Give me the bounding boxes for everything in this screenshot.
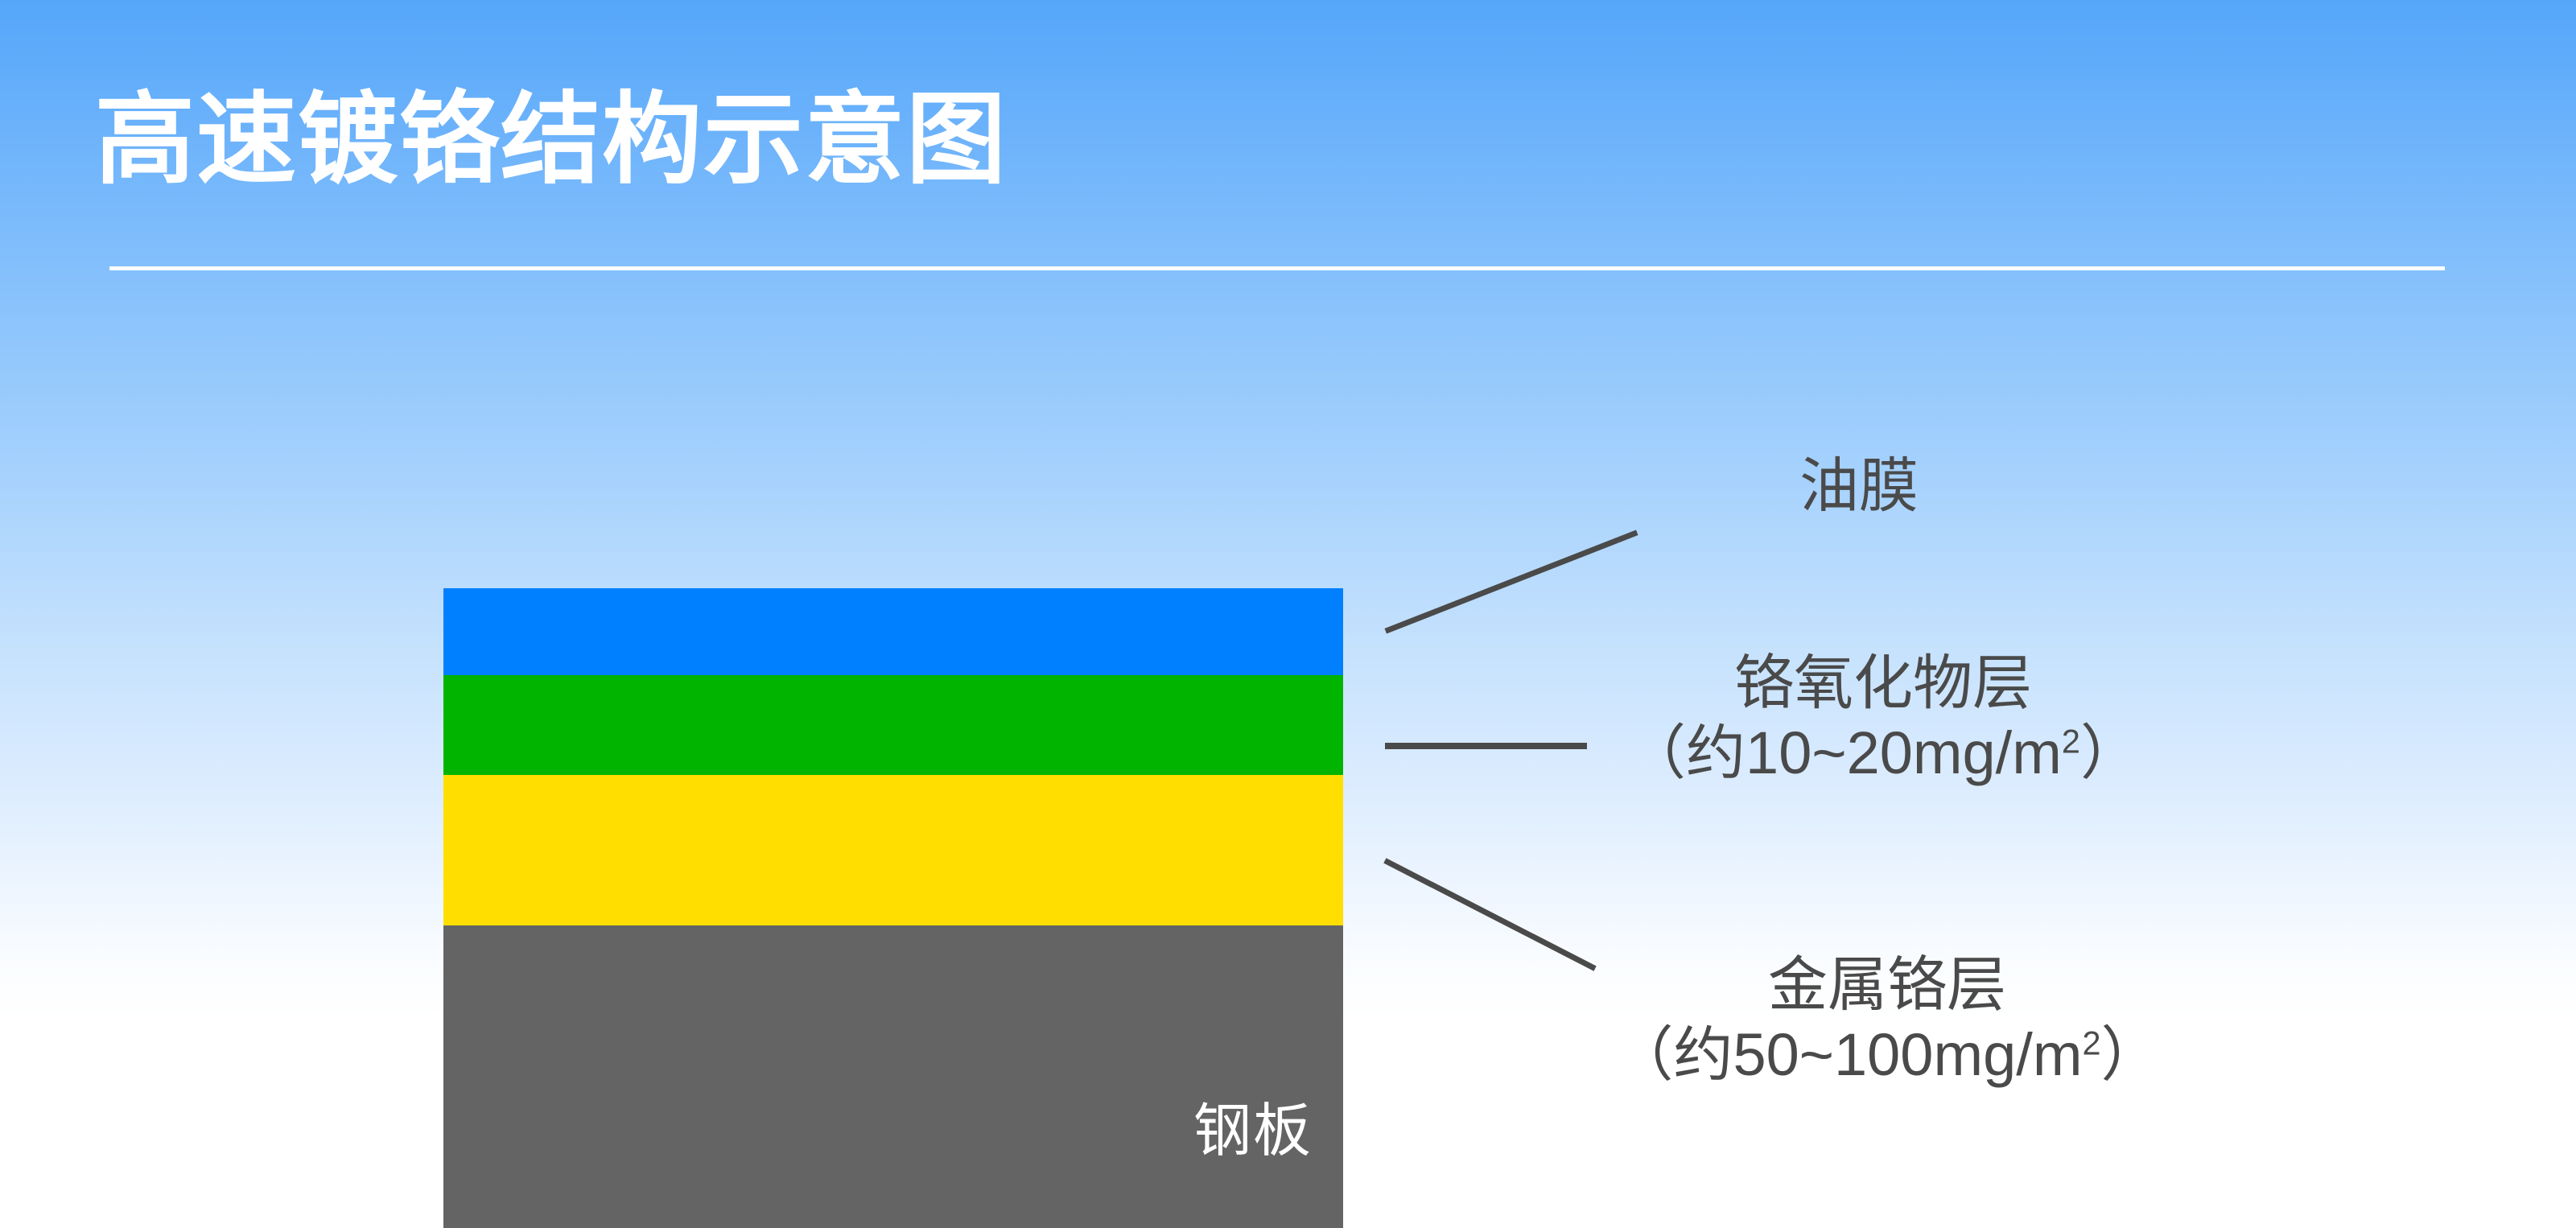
callout-oxide-amount-suffix: ） (2080, 719, 2140, 786)
layer-steel-substrate: 钢板 (443, 925, 1343, 1228)
substrate-label: 钢板 (1193, 1102, 1313, 1160)
page-title: 高速镀铬结构示意图 (95, 87, 1008, 195)
leader-line-oil (1388, 534, 1634, 630)
layer-chrome-oxide (443, 675, 1343, 775)
callout-oxide-amount-prefix: （约10~20mg/m (1626, 719, 2062, 786)
title-divider (109, 266, 2445, 270)
callout-chrome-amount-prefix: （约50~100mg/m (1614, 1021, 2082, 1088)
layer-metallic-chrome (443, 775, 1343, 925)
layer-oil-film (443, 588, 1343, 675)
layer-stack-diagram: 钢板 (443, 588, 1343, 1228)
slide-canvas: 高速镀铬结构示意图 钢板 油膜 铬氧化物层 （约10~20mg/m2） 金属铬层… (0, 0, 2576, 1228)
callout-metallic-chrome: 金属铬层 （约50~100mg/m2） (1581, 950, 2193, 1090)
callout-chrome-amount-exponent: 2 (2082, 1024, 2100, 1062)
callout-chrome-oxide: 铬氧化物层 （约10~20mg/m2） (1601, 648, 2165, 789)
callout-oxide-amount: （约10~20mg/m2） (1601, 718, 2165, 788)
callout-oil-film: 油膜 (1634, 451, 2084, 521)
callout-oil-label: 油膜 (1799, 452, 1919, 519)
callout-chrome-label: 金属铬层 (1768, 951, 2006, 1018)
leader-line-chrome (1387, 862, 1593, 967)
callout-oxide-amount-exponent: 2 (2062, 723, 2080, 760)
callout-oxide-label: 铬氧化物层 (1734, 649, 2032, 716)
callout-chrome-amount-suffix: ） (2101, 1021, 2161, 1088)
callout-chrome-amount: （约50~100mg/m2） (1581, 1020, 2193, 1090)
